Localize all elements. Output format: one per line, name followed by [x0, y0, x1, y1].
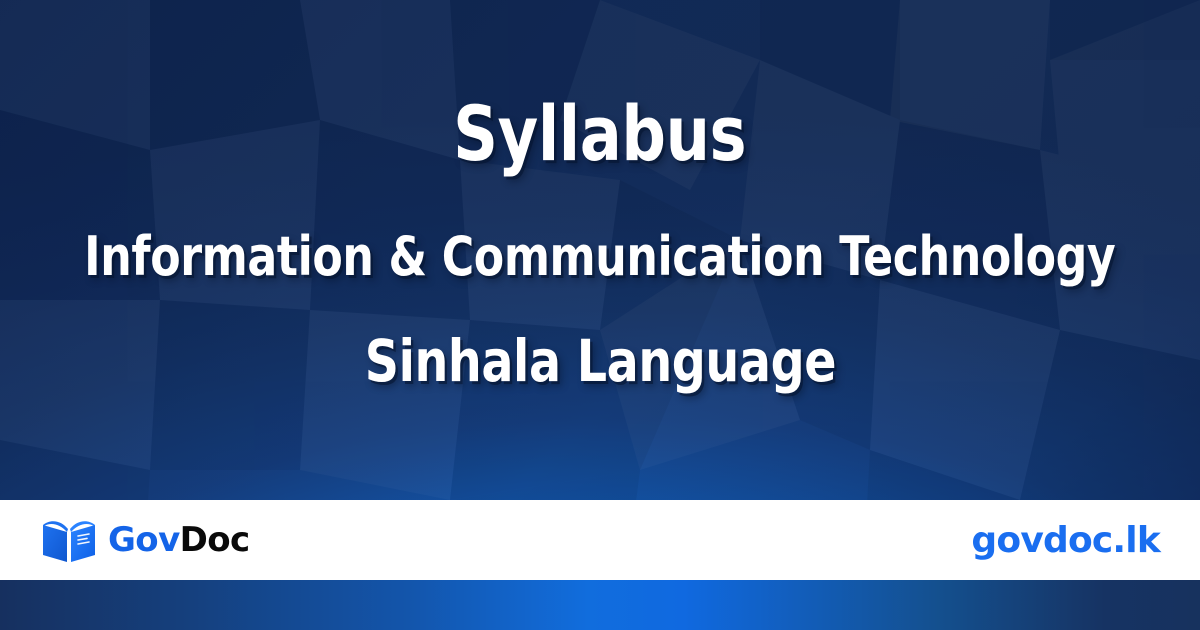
brand-logo[interactable]: GovDoc [42, 517, 250, 563]
brand-name-secondary: Doc [180, 520, 250, 560]
brand-wordmark: GovDoc [108, 523, 250, 557]
brand-name-primary: Gov [108, 520, 180, 560]
open-book-icon [42, 517, 96, 563]
page-title: Syllabus [453, 93, 746, 175]
subject-name: Information & Communication Technology [84, 228, 1115, 286]
medium-language: Sinhala Language [364, 330, 835, 393]
footer-bar: GovDoc govdoc.lk [0, 500, 1200, 580]
hero-text-block: Syllabus Information & Communication Tec… [0, 0, 1200, 500]
syllabus-share-card: Syllabus Information & Communication Tec… [0, 0, 1200, 630]
bottom-accent-strip [0, 580, 1200, 630]
site-url[interactable]: govdoc.lk [971, 520, 1160, 561]
